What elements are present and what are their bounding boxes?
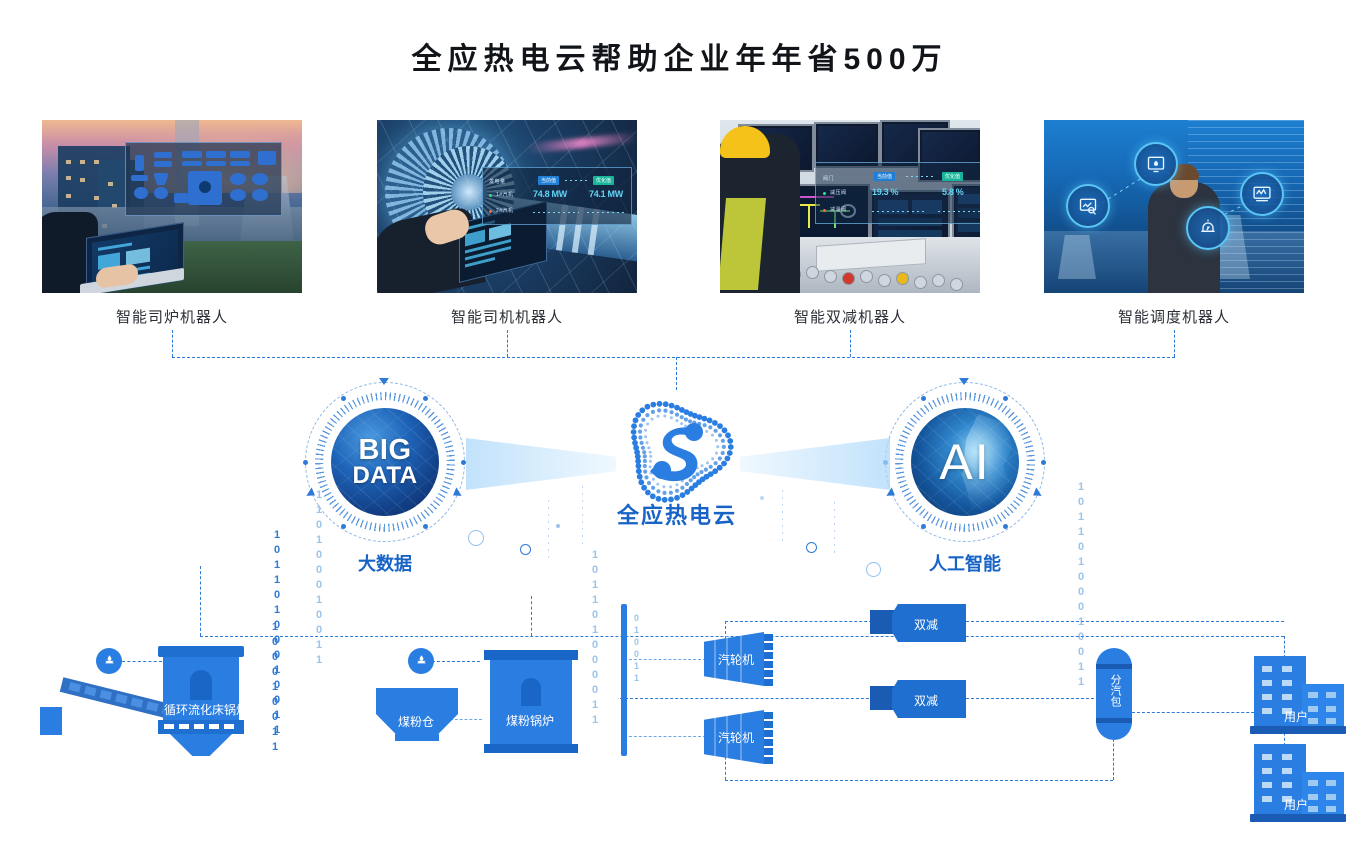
- photo-caption-control-room: 智能双减机器人: [720, 306, 980, 327]
- wire-reducer2-to-separator: [966, 698, 1094, 699]
- deco-dot-2: [760, 496, 764, 500]
- overlay3-row1-current: 19.3 %: [872, 187, 898, 197]
- cloud-logo-caption: 全应热电云: [567, 498, 787, 530]
- wire-photo3-down: [850, 330, 851, 357]
- wire-bus-to-cloud: [676, 357, 677, 390]
- wire-flame1: [122, 661, 162, 662]
- wire-bus-user1: [1284, 636, 1285, 658]
- overlay2-row1-optimized: 74.1 MW: [589, 189, 623, 199]
- alarm-icon: [1186, 206, 1230, 250]
- equipment-user-1-label: 用户: [1284, 708, 1308, 725]
- equipment-reducer-1[interactable]: 双减: [870, 604, 966, 642]
- deco-vdots-3: [782, 490, 783, 546]
- photo-image-dispatch: [1044, 120, 1304, 293]
- photo-image-control-room: 阀门 当前值 优化值 减压阀 19.3 % 5.8 % 减温阀: [720, 120, 980, 293]
- equipment-turbine-2[interactable]: 汽轮机: [704, 710, 764, 764]
- wire-pcb-up: [531, 596, 532, 636]
- flame-icon-cfb: [96, 648, 122, 674]
- beam-cloud-to-ai: [740, 438, 890, 490]
- bigdata-line2: DATA: [352, 464, 417, 487]
- search-chart-icon: [1066, 184, 1110, 228]
- flame-icon: [1134, 142, 1178, 186]
- photo-caption-dispatch: 智能调度机器人: [1044, 306, 1304, 327]
- overlay2-row2-name: 2#汽机: [496, 207, 514, 214]
- photo-image-turbine-operator: 发电量 当前值 优化值 1#汽机 74.8 MW 74.1 MW 2#汽机: [377, 120, 637, 293]
- deco-dot-1: [556, 524, 560, 528]
- wire-header-turbine2: [624, 736, 706, 737]
- wire-photo2-down: [507, 330, 508, 357]
- overlay2-row1-name: 1#汽机: [496, 191, 514, 198]
- equipment-reducer-1-label: 双减: [914, 616, 938, 633]
- monitor-icon: [1240, 172, 1284, 216]
- steam-header-bar: [621, 604, 627, 756]
- equipment-coal-bunker[interactable]: 煤粉仓: [376, 688, 458, 742]
- wire-photo4-down: [1174, 330, 1175, 357]
- photo1-hmi-overlay: [125, 142, 282, 216]
- equipment-turbine-1[interactable]: 汽轮机: [704, 632, 764, 686]
- beam-bigdata-to-cloud: [466, 438, 616, 490]
- flame-icon-pcb: [408, 648, 434, 674]
- equipment-pc-boiler[interactable]: 煤粉锅炉: [484, 650, 578, 754]
- binary-stream-mid: 101101000011: [592, 548, 598, 728]
- overlay2-current-header: 当前值: [538, 176, 559, 185]
- equipment-user-1[interactable]: 用户: [1254, 656, 1350, 736]
- wire-turbine2-to-separator: [725, 780, 1113, 781]
- equipment-cfb-boiler-label: 循环流化床锅炉: [164, 701, 248, 718]
- deco-ring-2: [520, 544, 531, 555]
- equipment-turbine-1-label: 汽轮机: [718, 651, 754, 668]
- photo-card-turbine-operator[interactable]: 发电量 当前值 优化值 1#汽机 74.8 MW 74.1 MW 2#汽机: [377, 120, 637, 293]
- overlay2-optimized-header: 优化值: [593, 176, 614, 185]
- equipment-steam-separator[interactable]: 分汽包: [1096, 648, 1132, 740]
- wire-flame2: [432, 661, 480, 662]
- deco-ring-4: [866, 562, 881, 577]
- wire-photo1-down: [172, 330, 173, 357]
- binary-stream-left-b: 110100010011: [316, 488, 322, 668]
- wire-header-reducer2: [620, 698, 884, 699]
- bigdata-line1: BIG: [352, 437, 417, 465]
- overlay3-metric-label: 阀门: [823, 175, 834, 182]
- photo-card-dispatch[interactable]: [1044, 120, 1304, 293]
- deco-vdots-2: [582, 486, 583, 544]
- overlay3-optimized-header: 优化值: [942, 172, 963, 181]
- core-ai-caption: 人工智能: [865, 550, 1065, 576]
- overlay2-row1-current: 74.8 MW: [533, 189, 567, 199]
- equipment-steam-separator-label: 分汽包: [1108, 674, 1121, 707]
- photo3-data-overlay: 阀门 当前值 优化值 减压阀 19.3 % 5.8 % 减温阀: [815, 162, 980, 224]
- coal-conveyor: [40, 700, 164, 740]
- photo-card-control-room[interactable]: 阀门 当前值 优化值 减压阀 19.3 % 5.8 % 减温阀: [720, 120, 980, 293]
- photo-caption-turbine-operator: 智能司机机器人: [377, 306, 637, 327]
- cloud-icon: [602, 392, 752, 507]
- binary-stream-right: 10110100010011: [1078, 480, 1084, 690]
- ai-title: AI: [939, 433, 990, 491]
- overlay3-row1-name: 减压阀: [830, 189, 847, 196]
- core-bigdata: BIG DATA: [305, 382, 465, 542]
- deco-ring-3: [806, 542, 817, 553]
- wire-header-turbine1: [624, 659, 706, 660]
- photo-card-boiler-operator[interactable]: [42, 120, 302, 293]
- wire-reducer1-out: [966, 621, 1284, 622]
- equipment-pc-boiler-label: 煤粉锅炉: [506, 712, 554, 729]
- overlay3-row2-name: 减温阀: [830, 206, 847, 213]
- photo-image-boiler-operator: [42, 120, 302, 293]
- wire-cfb-up: [200, 566, 201, 636]
- equipment-coal-bunker-label: 煤粉仓: [398, 713, 434, 730]
- overlay3-current-header: 当前值: [874, 172, 895, 181]
- core-ai: AI: [885, 382, 1045, 542]
- binary-stream-pcb: 010011: [634, 612, 639, 684]
- page-title: 全应热电云帮助企业年年省500万: [0, 34, 1359, 78]
- deco-vdots-4: [834, 502, 835, 556]
- photo-caption-boiler-operator: 智能司炉机器人: [42, 306, 302, 327]
- infographic-canvas: 全应热电云帮助企业年年省500万: [0, 0, 1359, 842]
- binary-stream-cfb: 100010011: [272, 620, 278, 755]
- wire-photo-bus: [172, 357, 1175, 358]
- equipment-reducer-2-label: 双减: [914, 692, 938, 709]
- equipment-user-2[interactable]: 用户: [1254, 744, 1350, 824]
- equipment-user-2-label: 用户: [1284, 796, 1308, 813]
- deco-vdots-1: [548, 500, 549, 560]
- equipment-cfb-boiler[interactable]: 循环流化床锅炉: [158, 646, 244, 754]
- overlay2-metric-label: 发电量: [489, 178, 506, 185]
- equipment-turbine-2-label: 汽轮机: [718, 729, 754, 746]
- core-bigdata-caption: 大数据: [285, 550, 485, 576]
- wire-separator-down: [1113, 734, 1114, 780]
- deco-ring-1: [468, 530, 484, 546]
- equipment-reducer-2[interactable]: 双减: [870, 680, 966, 718]
- overlay3-row1-optimized: 5.8 %: [942, 187, 964, 197]
- photo2-data-overlay: 发电量 当前值 优化值 1#汽机 74.8 MW 74.1 MW 2#汽机: [482, 167, 632, 225]
